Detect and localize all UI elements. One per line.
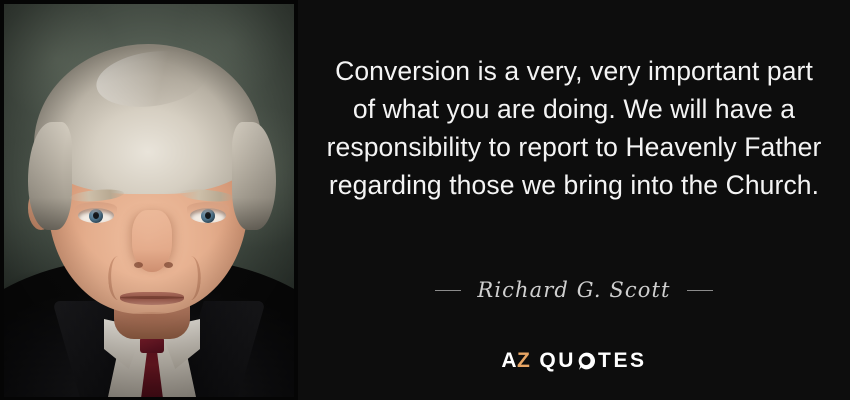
attribution-rule-right	[687, 290, 713, 291]
quote-panel: Conversion is a very, very important par…	[298, 0, 850, 400]
quote-text: Conversion is a very, very important par…	[324, 52, 824, 204]
portrait-photo	[4, 4, 294, 397]
brand-word-part-1: QU	[539, 350, 576, 371]
attribution: Richard G. Scott	[324, 278, 824, 302]
brand-word-part-2: TES	[598, 350, 647, 371]
attribution-rule-left	[435, 290, 461, 291]
brand-logo[interactable]: A Z QU TES	[324, 350, 824, 371]
speech-bubble-icon	[577, 352, 595, 370]
quote-card: Conversion is a very, very important par…	[0, 0, 850, 400]
photo-vignette	[4, 4, 294, 397]
attribution-name: Richard G. Scott	[477, 278, 670, 302]
brand-letter-a: A	[501, 350, 517, 371]
portrait-panel	[0, 0, 298, 400]
brand-letter-z: Z	[517, 350, 530, 371]
